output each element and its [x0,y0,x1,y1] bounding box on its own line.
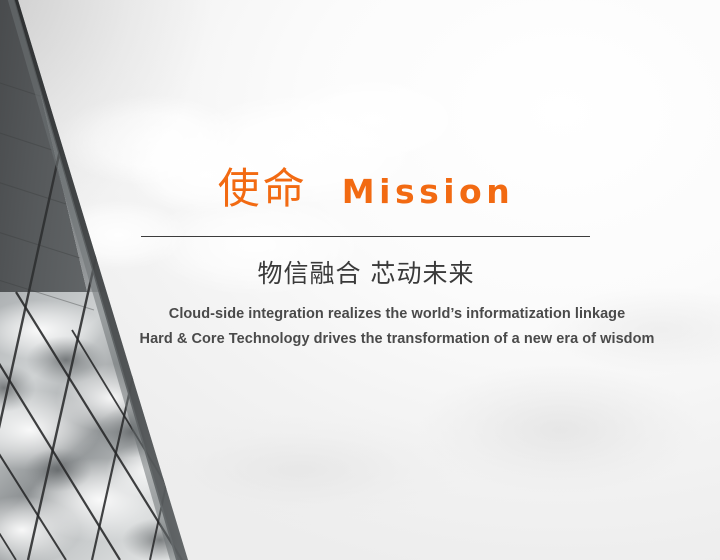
hero-subtitle: 物信融合 芯动未来 [141,258,591,289]
hero-banner: 使命 Mission 物信融合 芯动未来 Cloud-side integrat… [0,0,720,560]
page-title-english: Mission [342,175,514,210]
tagline-line-2: Hard & Core Technology drives the transf… [57,327,720,352]
title-divider [141,236,590,237]
hero-content: 使命 Mission 物信融合 芯动未来 Cloud-side integrat… [0,0,720,560]
hero-taglines: Cloud-side integration realizes the worl… [57,302,720,352]
tagline-line-1: Cloud-side integration realizes the worl… [57,302,720,327]
hero-title-row: 使命 Mission [141,168,591,210]
page-title-chinese: 使命 [218,168,308,210]
